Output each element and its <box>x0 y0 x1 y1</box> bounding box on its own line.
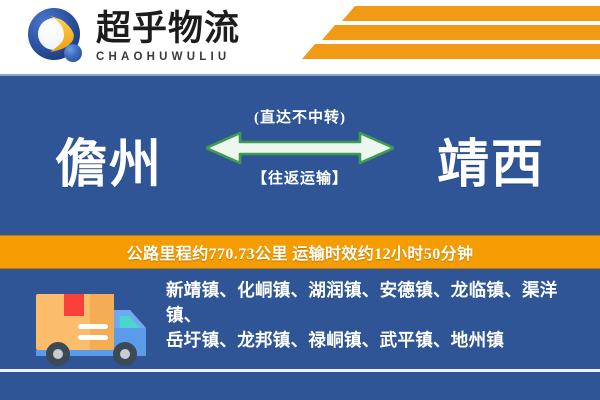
coverage-line-1: 新靖镇、化峒镇、湖润镇、安德镇、龙临镇、渠洋镇、 <box>166 278 586 328</box>
route-block: 儋州 (直达不中转) 【往返运输】 靖西 <box>0 98 600 238</box>
circle-moon-logo-icon <box>26 6 88 68</box>
brand-name-en: CHAOHUWULIU <box>96 52 240 64</box>
coverage-line-2: 岳圩镇、龙邦镇、禄峒镇、武平镇、地州镇 <box>166 328 586 353</box>
logo-accent-dot <box>64 44 82 62</box>
logistics-route-poster: 超乎物流 CHAOHUWULIU 儋州 (直达不中转) 【往返运输】 <box>0 0 600 400</box>
delivery-truck-icon <box>28 276 156 372</box>
brand-text-block: 超乎物流 CHAOHUWULIU <box>96 11 240 64</box>
coverage-town-list: 新靖镇、化峒镇、湖润镇、安德镇、龙临镇、渠洋镇、 岳圩镇、龙邦镇、禄峒镇、武平镇… <box>166 278 586 353</box>
stripe-1 <box>342 6 600 21</box>
origin-city: 儋州 <box>55 122 163 197</box>
header-divider <box>0 74 600 76</box>
orange-diagonal-stripes-icon <box>280 4 600 68</box>
brand-name-cn: 超乎物流 <box>96 11 240 46</box>
poster-body: 儋州 (直达不中转) 【往返运输】 靖西 公路里程约770.73公里 运输时效约… <box>0 74 600 400</box>
footer-divider <box>0 369 600 372</box>
brand-block: 超乎物流 CHAOHUWULIU <box>26 6 240 68</box>
poster-header: 超乎物流 CHAOHUWULIU <box>0 0 600 74</box>
destination-city: 靖西 <box>437 122 545 197</box>
direct-transit-note: (直达不中转) <box>190 106 410 127</box>
distance-duration-bar: 公路里程约770.73公里 运输时效约12小时50分钟 <box>0 235 600 269</box>
distance-duration-text: 公路里程约770.73公里 运输时效约12小时50分钟 <box>127 240 474 264</box>
double-headed-arrow-icon <box>190 131 410 165</box>
stripe-2 <box>322 25 600 40</box>
stripe-3 <box>302 44 600 59</box>
route-middle: (直达不中转) 【往返运输】 <box>190 106 410 188</box>
round-trip-note: 【往返运输】 <box>190 167 410 188</box>
